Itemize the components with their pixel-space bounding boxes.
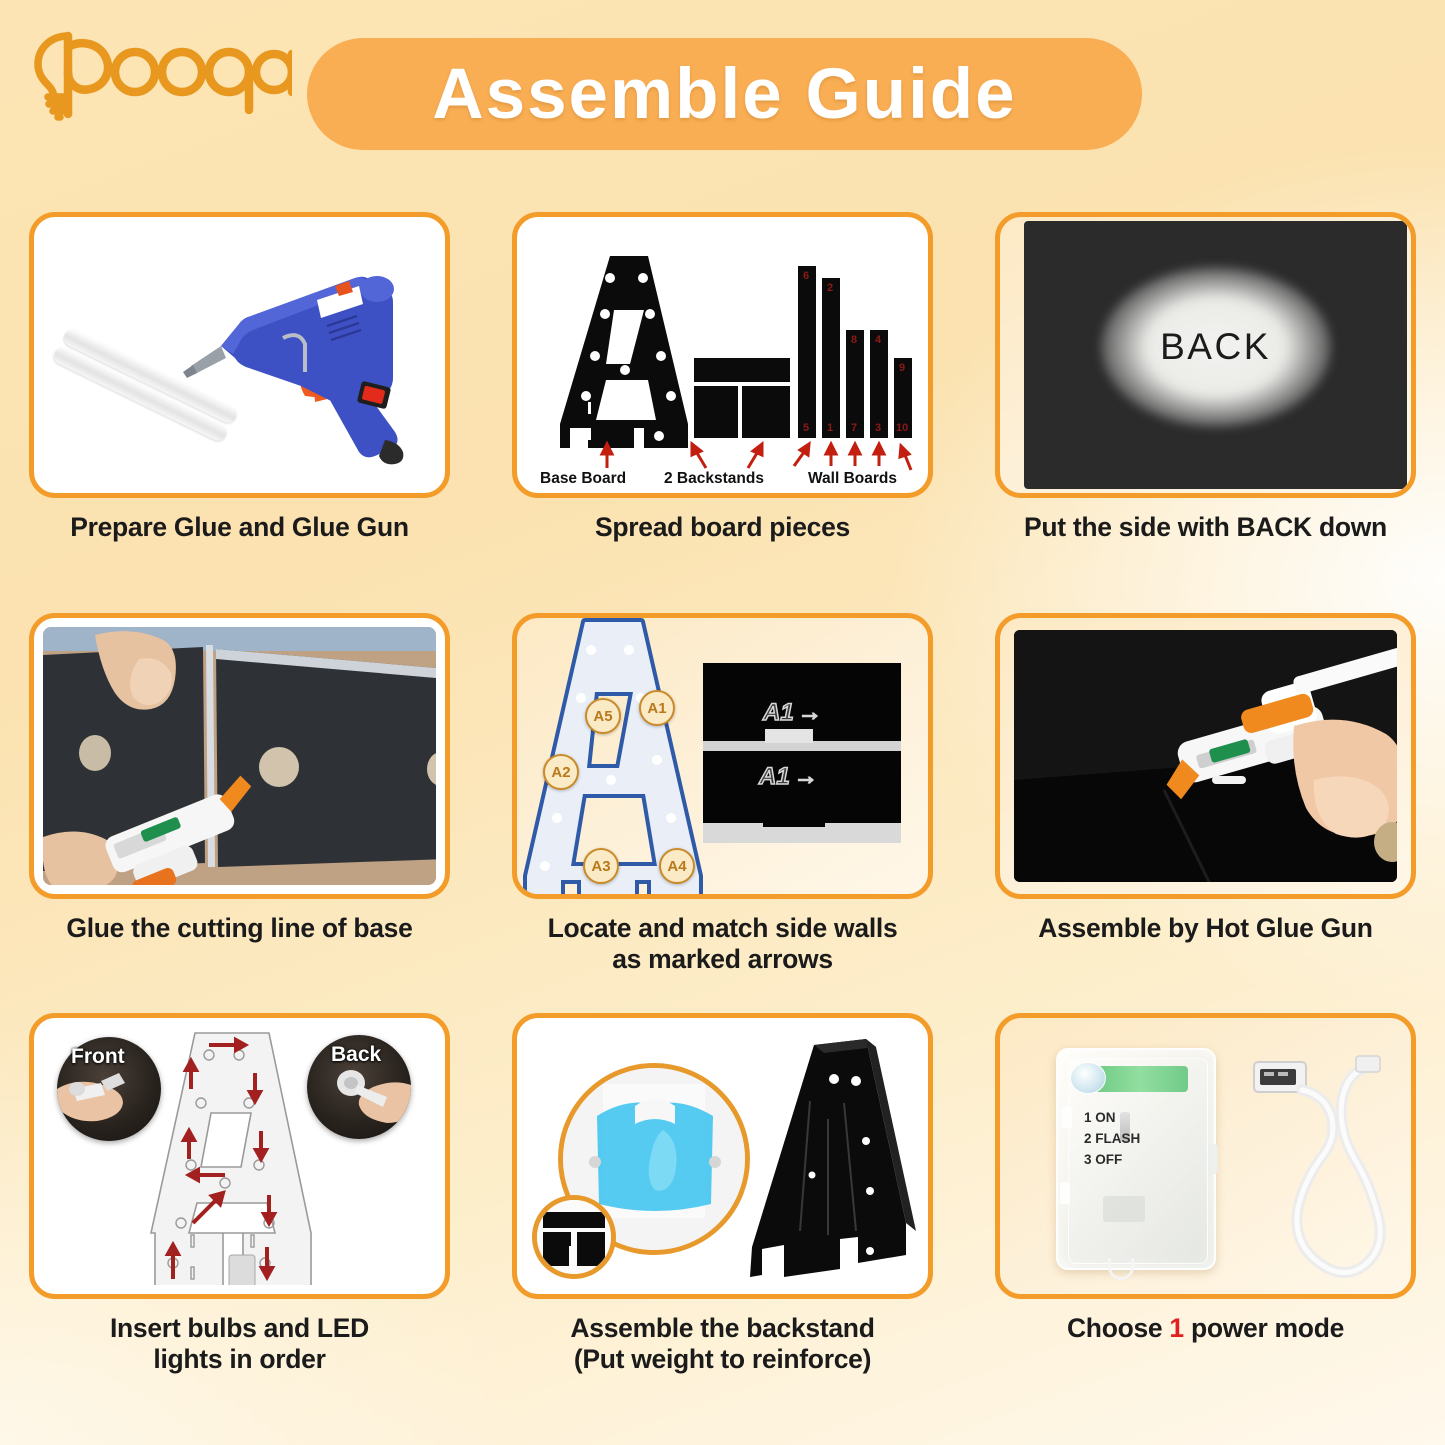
a1-match-photo: A1 → A1 → [703,663,901,843]
wall-board-number-bottom-2: 1 [827,422,833,434]
back-side-photo: BACK [1024,221,1407,489]
page-title: Assemble Guide [432,54,1016,135]
power-mode-list: 1 ON 2 FLASH 3 OFF [1084,1108,1140,1171]
step-5-caption-line-1: Locate and match side walls [500,913,945,944]
step-4-caption: Glue the cutting line of base [17,913,462,944]
step-card-7: Front Back [17,1013,462,1376]
backstand-assembly-diagram [526,1027,919,1285]
glue-gun-illustration [43,226,436,484]
insert-bulbs-diagram: Front Back [43,1027,436,1285]
base-board-label: Base Board [540,470,626,484]
step-7-caption-line-1: Insert bulbs and LED [17,1313,462,1344]
hot-glue-gun-photo [1014,630,1397,882]
step-8-image [512,1013,933,1299]
a1-tag-bottom: A1 [759,763,790,791]
back-label: BACK [1160,326,1271,368]
step-9-caption: Choose 1 power mode [983,1313,1428,1344]
step-6-image [995,613,1416,899]
step-9-caption-after: power mode [1184,1313,1344,1343]
marker-a4: A4 [659,848,695,884]
step-card-3: BACK Put the side with BACK down [983,212,1428,543]
step-card-5: A5 A1 A2 A3 A4 A1 → [500,613,945,976]
a1-tag-top: A1 [763,699,794,727]
step-7-image: Front Back [29,1013,450,1299]
lightbulb-icon: pooqla [22,14,292,126]
led-lens-icon [1070,1062,1106,1094]
step-card-1: Prepare Glue and Glue Gun [17,212,462,543]
step-3-caption: Put the side with BACK down [983,512,1428,543]
step-7-caption: Insert bulbs and LED lights in order [17,1313,462,1376]
step-5-caption-line-2: as marked arrows [500,944,945,975]
wall-board-number-bottom-3: 7 [851,422,857,434]
backstands-label: 2 Backstands [664,470,764,484]
wall-boards-label: Wall Boards [808,470,897,484]
guide-page: pooqla pooqla Assemble Guide [0,0,1445,1445]
step-8-caption-line-1: Assemble the backstand [500,1313,945,1344]
step-9-caption-highlight: 1 [1169,1313,1183,1343]
step-card-4: Glue the cutting line of base [17,613,462,944]
usb-cable [1238,1050,1408,1299]
step-5-image: A5 A1 A2 A3 A4 A1 → [512,613,933,899]
step-5-caption: Locate and match side walls as marked ar… [500,913,945,976]
step-9-image: 1 ON 2 FLASH 3 OFF [995,1013,1416,1299]
step-1-image [29,212,450,498]
wall-board-number-bottom-4: 3 [875,422,881,434]
step-8-caption-line-2: (Put weight to reinforce) [500,1344,945,1375]
step-card-8: Assemble the backstand (Put weight to re… [500,1013,945,1376]
arrow-right-icon-top: → [798,699,822,727]
battery-box: 1 ON 2 FLASH 3 OFF [1056,1048,1216,1270]
steps-grid: Prepare Glue and Glue Gun [0,190,1445,1445]
step-card-6: Assemble by Hot Glue Gun [983,613,1428,944]
glue-cutting-line-photo [43,627,436,885]
wall-board-number-top-4: 4 [875,334,881,346]
wall-board-number-top-2: 2 [827,282,833,294]
wall-board-number-top-1: 6 [803,270,809,282]
wall-board-number-top-5: 9 [899,362,905,374]
step-3-image: BACK [995,212,1416,498]
marker-a1: A1 [639,690,675,726]
backstand-piece-inset [532,1195,616,1279]
black-backstand [748,1031,919,1285]
marker-a5: A5 [585,698,621,734]
step-2-caption: Spread board pieces [500,512,945,543]
step-8-caption: Assemble the backstand (Put weight to re… [500,1313,945,1376]
step-card-9: 1 ON 2 FLASH 3 OFF Choose 1 power [983,1013,1428,1344]
title-banner: Assemble Guide [307,38,1142,150]
step-4-image [29,613,450,899]
marker-a3: A3 [583,848,619,884]
back-inset-label: Back [331,1043,381,1067]
step-2-image: 6 2 8 4 9 5 1 7 3 10 [512,212,933,498]
step-7-caption-line-2: lights in order [17,1344,462,1375]
board-pieces-diagram: 6 2 8 4 9 5 1 7 3 10 [526,226,919,484]
step-1-caption: Prepare Glue and Glue Gun [17,512,462,543]
locate-side-walls-diagram: A5 A1 A2 A3 A4 A1 → [517,618,928,894]
step-6-caption: Assemble by Hot Glue Gun [983,913,1428,944]
brand-logo: pooqla pooqla [22,14,292,126]
step-9-caption-before: Choose [1067,1313,1169,1343]
power-mode-illustration: 1 ON 2 FLASH 3 OFF [1000,1018,1411,1294]
arrow-right-icon-bottom: → [794,763,818,791]
front-inset-label: Front [71,1045,125,1069]
wall-board-number-bottom-5: 10 [896,422,908,434]
wall-board-number-top-3: 8 [851,334,857,346]
marker-a2: A2 [543,754,579,790]
wall-board-number-bottom-1: 5 [803,422,809,434]
step-card-2: 6 2 8 4 9 5 1 7 3 10 [500,212,945,543]
page-header: pooqla pooqla Assemble Guide [0,0,1445,190]
